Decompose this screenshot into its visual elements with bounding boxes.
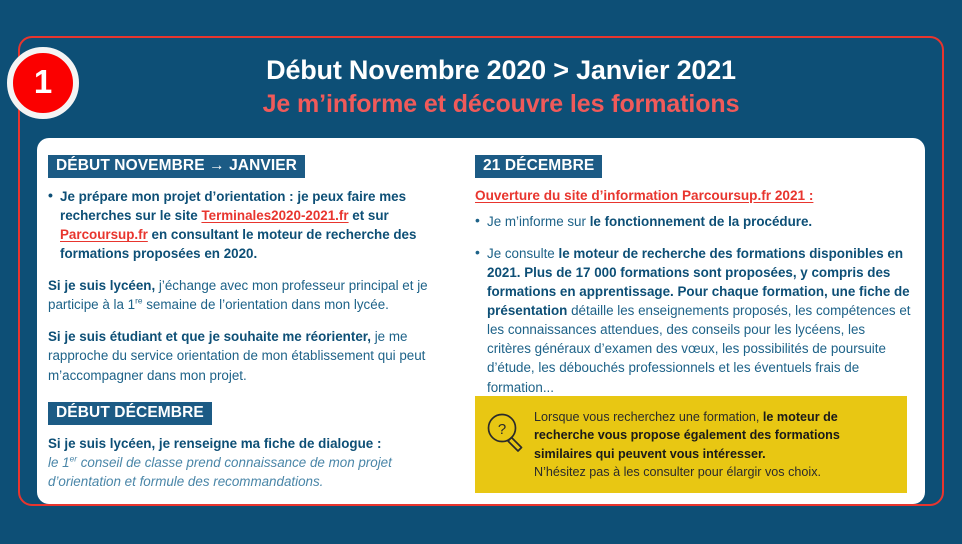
content-card: DÉBUT NOVEMBRE → JANVIER Je prépare mon … bbox=[37, 138, 925, 504]
bullet2-normal-text: Je consulte bbox=[487, 246, 558, 261]
link-parcoursup[interactable]: Parcoursup.fr bbox=[60, 227, 148, 242]
lyceen-bold-lead: Si je suis lycéen, bbox=[48, 278, 155, 293]
step-number-badge: 1 bbox=[7, 47, 79, 119]
right-column: 21 DÉCEMBRE Ouverture du site d’informat… bbox=[467, 138, 925, 504]
lyceen-text-b: semaine de l’orientation dans mon lycée. bbox=[142, 297, 388, 312]
etudiant-bold-lead: Si je suis étudiant et que je souhaite m… bbox=[48, 329, 371, 344]
right-bullet-moteur-recherche: Je consulte le moteur de recherche des f… bbox=[475, 244, 911, 396]
bullet1-normal-text: Je m’informe sur bbox=[487, 214, 590, 229]
fiche-dialogue-italic-a: le 1 bbox=[48, 455, 70, 470]
chip-debut-novembre-janvier: DÉBUT NOVEMBRE → JANVIER bbox=[48, 155, 305, 178]
callout-line-a-normal: Lorsque vous recherchez une formation, bbox=[534, 410, 763, 424]
fiche-dialogue-ordinal-sup: er bbox=[70, 453, 77, 463]
left-column: DÉBUT NOVEMBRE → JANVIER Je prépare mon … bbox=[37, 138, 467, 504]
yellow-tip-callout: ? Lorsque vous recherchez une formation,… bbox=[475, 396, 907, 493]
step-number-label: 1 bbox=[34, 65, 52, 98]
paragraph-si-je-suis-etudiant: Si je suis étudiant et que je souhaite m… bbox=[48, 327, 459, 384]
bullet1-bold-text: le fonctionnement de la procédure. bbox=[590, 214, 812, 229]
chip-21-decembre: 21 DÉCEMBRE bbox=[475, 155, 602, 178]
red-heading-ouverture-site: Ouverture du site d’information Parcours… bbox=[475, 188, 911, 203]
left-bullet-preparation: Je prépare mon projet d’orientation : je… bbox=[48, 187, 459, 263]
page-title: Début Novembre 2020 > Janvier 2021 bbox=[266, 55, 736, 85]
link-terminales2020-2021[interactable]: Terminales2020-2021.fr bbox=[201, 208, 348, 223]
paragraph-fiche-dialogue: Si je suis lycéen, je renseigne ma fiche… bbox=[48, 434, 459, 491]
magnifier-question-icon: ? bbox=[485, 412, 525, 459]
right-bullet-fonctionnement: Je m’informe sur le fonctionnement de la… bbox=[475, 212, 911, 231]
bullet-mid-text: et sur bbox=[349, 208, 389, 223]
page-subtitle: Je m’informe et découvre les formations bbox=[263, 89, 740, 119]
header-banner: Début Novembre 2020 > Janvier 2021 Je m’… bbox=[20, 38, 942, 136]
callout-text: Lorsque vous recherchez une formation, l… bbox=[534, 408, 895, 481]
paragraph-si-je-suis-lyceen: Si je suis lycéen, j’échange avec mon pr… bbox=[48, 276, 459, 314]
svg-text:?: ? bbox=[498, 421, 506, 438]
callout-line-b: N’hésitez pas à les consulter pour élarg… bbox=[534, 465, 821, 479]
fiche-dialogue-italic-b: conseil de classe prend connaissance de … bbox=[48, 455, 392, 489]
fiche-dialogue-bold-lead: Si je suis lycéen, je renseigne ma fiche… bbox=[48, 436, 381, 451]
chip-debut-decembre: DÉBUT DÉCEMBRE bbox=[48, 402, 212, 425]
